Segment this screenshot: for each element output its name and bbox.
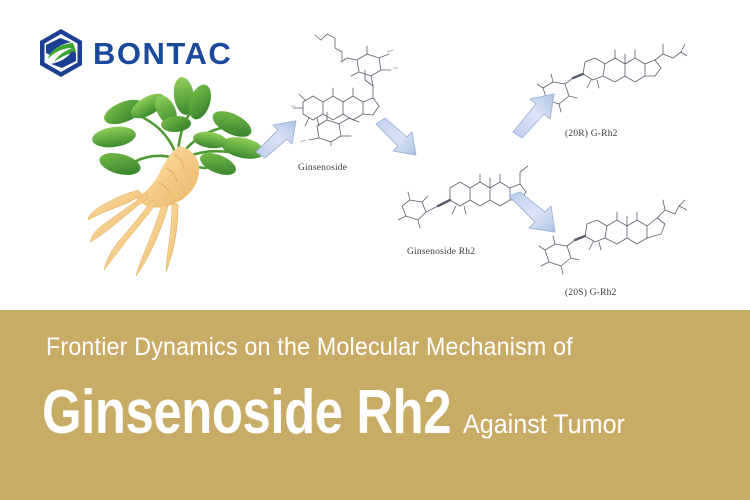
caption-20r-g-rh2: (20R) G-Rh2 (565, 129, 618, 139)
brand-name: BONTAC (93, 38, 232, 69)
arrow-up-right-icon (510, 90, 558, 138)
title-line: Ginsenoside Rh2 Against Tumor (42, 382, 637, 444)
20r-g-rh2-structure-icon (537, 18, 687, 118)
caption-ginsenoside-rh2: Ginsenoside Rh2 (407, 247, 475, 257)
subtitle-line: Frontier Dynamics on the Molecular Mecha… (46, 333, 573, 362)
caption-ginsenoside: Ginsenoside (298, 163, 347, 173)
hexagon-leaf-logo-icon (38, 28, 84, 78)
20s-g-rh2-structure-icon (537, 178, 687, 278)
arrow-down-right-icon (505, 192, 557, 240)
arrow-down-right-icon (374, 118, 422, 158)
arrow-up-right-icon (254, 118, 302, 158)
page-title: Ginsenoside Rh2 (42, 382, 451, 444)
banner-root: BONTAC (0, 0, 750, 500)
caption-20s-g-rh2: (20S) G-Rh2 (565, 288, 617, 298)
title-suffix: Against Tumor (463, 411, 625, 438)
ginseng-root-plant-icon (88, 72, 278, 277)
brand-logo[interactable]: BONTAC (38, 28, 232, 78)
